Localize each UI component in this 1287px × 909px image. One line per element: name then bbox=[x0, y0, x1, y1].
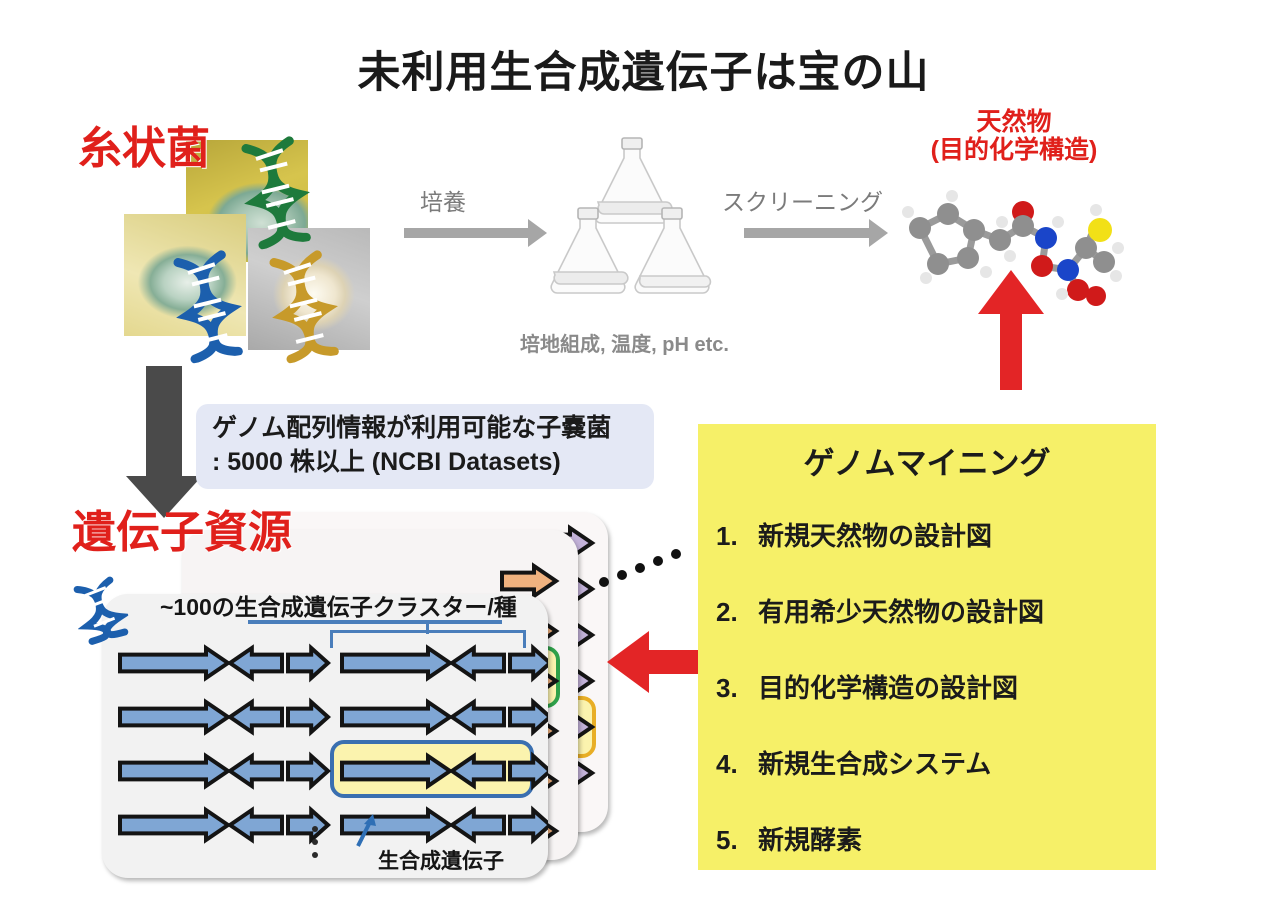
gene-arrow-icon bbox=[120, 702, 228, 732]
gene-arrow-icon bbox=[452, 702, 504, 732]
vertical-ellipsis-icon bbox=[312, 826, 318, 865]
mining-item-2-text: 有用希少天然物の設計図 bbox=[758, 592, 1044, 629]
cultivate-label: 培養 bbox=[420, 183, 466, 217]
mining-item-1-text: 新規天然物の設計図 bbox=[758, 516, 992, 553]
biosynthesis-gene-label: 生合成遺伝子 bbox=[378, 845, 504, 875]
natural-product-line2: (目的化学構造) bbox=[880, 136, 1148, 164]
slide-canvas: 未利用生合成遺伝子は宝の山 bbox=[0, 0, 1287, 909]
right-arrow-icon bbox=[744, 228, 870, 238]
screening-label: スクリーニング bbox=[722, 183, 883, 217]
mining-item-2: 2. 有用希少天然物の設計図 bbox=[716, 592, 1146, 629]
genome-callout: ゲノム配列情報が利用可能な子嚢菌 : 5000 株以上 (NCBI Datase… bbox=[196, 404, 654, 489]
gene-arrow-icon bbox=[230, 810, 282, 840]
genome-mining-panel: ゲノムマイニング 1. 新規天然物の設計図 2. 有用希少天然物の設計図 3. … bbox=[698, 424, 1156, 870]
cluster-underline bbox=[248, 620, 502, 624]
mining-item-1: 1. 新規天然物の設計図 bbox=[716, 516, 1146, 553]
mining-item-4: 4. 新規生合成システム bbox=[716, 744, 1146, 781]
gene-arrow-icon bbox=[510, 702, 548, 732]
gene-arrow-icon bbox=[120, 756, 228, 786]
gene-arrow-icon bbox=[288, 756, 328, 786]
gene-arrow-icon bbox=[510, 810, 548, 840]
gene-arrow-icon bbox=[288, 702, 328, 732]
cluster-caption: ~100の生合成遺伝子クラスター/種 bbox=[160, 588, 517, 622]
left-arrow-icon bbox=[648, 650, 700, 674]
gene-arrow-icon bbox=[288, 648, 328, 678]
mining-item-5-text: 新規酵素 bbox=[758, 820, 862, 857]
gene-arrow-icon bbox=[510, 648, 548, 678]
fungi-heading: 糸状菌 bbox=[78, 124, 210, 173]
cluster-bracket-tick bbox=[426, 622, 429, 634]
gene-arrow-icon bbox=[120, 810, 228, 840]
mining-item-4-number: 4. bbox=[716, 749, 744, 780]
pointer-arrow-icon bbox=[352, 812, 378, 848]
gene-arrow-icon bbox=[288, 810, 328, 840]
gene-arrow-icon bbox=[120, 648, 228, 678]
mining-item-5: 5. 新規酵素 bbox=[716, 820, 1146, 857]
mining-item-2-number: 2. bbox=[716, 597, 744, 628]
ellipsis-dots-icon bbox=[598, 548, 688, 588]
gene-resource-heading: 遺伝子資源 bbox=[72, 508, 292, 557]
gene-arrow-icon bbox=[230, 702, 282, 732]
natural-product-heading: 天然物 (目的化学構造) bbox=[880, 108, 1148, 164]
natural-product-line1: 天然物 bbox=[880, 108, 1148, 136]
mining-item-3-number: 3. bbox=[716, 673, 744, 704]
gene-arrow-icon bbox=[342, 648, 450, 678]
gene-arrow-icon bbox=[342, 702, 450, 732]
mining-item-3: 3. 目的化学構造の設計図 bbox=[716, 668, 1146, 705]
medium-conditions-label: 培地組成, 温度, pH etc. bbox=[520, 328, 729, 357]
up-arrow-icon bbox=[1000, 312, 1022, 390]
erlenmeyer-flask-icon bbox=[540, 136, 720, 326]
gene-arrow-icon bbox=[230, 648, 282, 678]
gene-arrow-icon bbox=[452, 648, 504, 678]
down-arrow-icon bbox=[146, 366, 182, 476]
mining-item-4-text: 新規生合成システム bbox=[758, 744, 991, 781]
right-arrow-icon bbox=[404, 228, 529, 238]
gene-arrow-icon bbox=[230, 756, 282, 786]
mining-item-1-number: 1. bbox=[716, 521, 744, 552]
mining-item-5-number: 5. bbox=[716, 825, 744, 856]
genome-mining-title: ゲノムマイニング bbox=[698, 438, 1156, 483]
mining-item-3-text: 目的化学構造の設計図 bbox=[758, 668, 1018, 705]
gene-arrow-icon bbox=[452, 810, 504, 840]
page-title: 未利用生合成遺伝子は宝の山 bbox=[0, 38, 1287, 100]
genome-callout-line1: ゲノム配列情報が利用可能な子嚢菌 bbox=[212, 412, 642, 446]
genome-callout-line2: : 5000 株以上 (NCBI Datasets) bbox=[212, 446, 642, 480]
